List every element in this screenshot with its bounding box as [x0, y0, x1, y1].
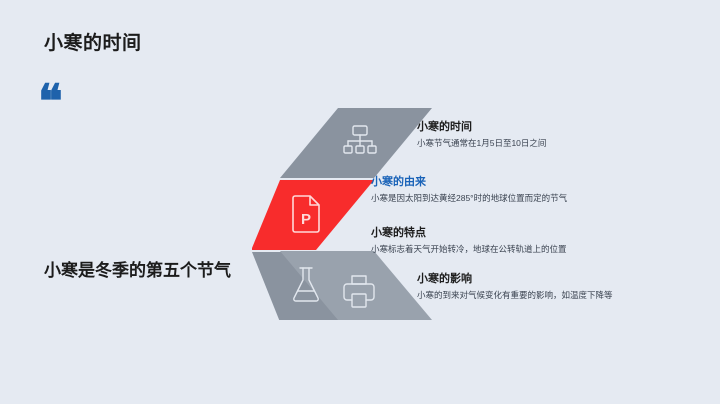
list-item[interactable]: 小寒的由来 小寒是因太阳到达黄经285°时的地球位置而定的节气 — [371, 175, 567, 204]
item-description: 小寒标志着天气开始转冷，地球在公转轨道上的位置 — [371, 243, 567, 255]
list-item[interactable]: 小寒的影响 小寒的到来对气候变化有重要的影响，如温度下降等 — [417, 272, 613, 301]
chevron-diagram: P — [252, 108, 432, 320]
list-item[interactable]: 小寒的特点 小寒标志着天气开始转冷，地球在公转轨道上的位置 — [371, 226, 567, 255]
slide-subtitle: 小寒是冬季的第五个节气 — [44, 258, 240, 284]
item-title: 小寒的特点 — [371, 226, 567, 241]
page-title: 小寒的时间 — [44, 28, 142, 55]
list-item[interactable]: 小寒的时间 小寒节气通常在1月5日至10日之间 — [417, 120, 546, 149]
item-description: 小寒是因太阳到达黄经285°时的地球位置而定的节气 — [371, 192, 567, 204]
item-description: 小寒的到来对气候变化有重要的影响，如温度下降等 — [417, 289, 613, 301]
item-title: 小寒的由来 — [371, 175, 567, 190]
item-title: 小寒的时间 — [417, 120, 546, 135]
item-title: 小寒的影响 — [417, 272, 613, 287]
quote-mark-icon: ❝ — [38, 78, 63, 124]
chevron-band-1 — [280, 108, 432, 178]
chevron-band-2 — [252, 180, 374, 250]
svg-text:P: P — [301, 211, 311, 228]
slide-canvas: 小寒的时间 ❝ 小寒是冬季的第五个节气 — [0, 0, 720, 404]
item-description: 小寒节气通常在1月5日至10日之间 — [417, 137, 546, 149]
